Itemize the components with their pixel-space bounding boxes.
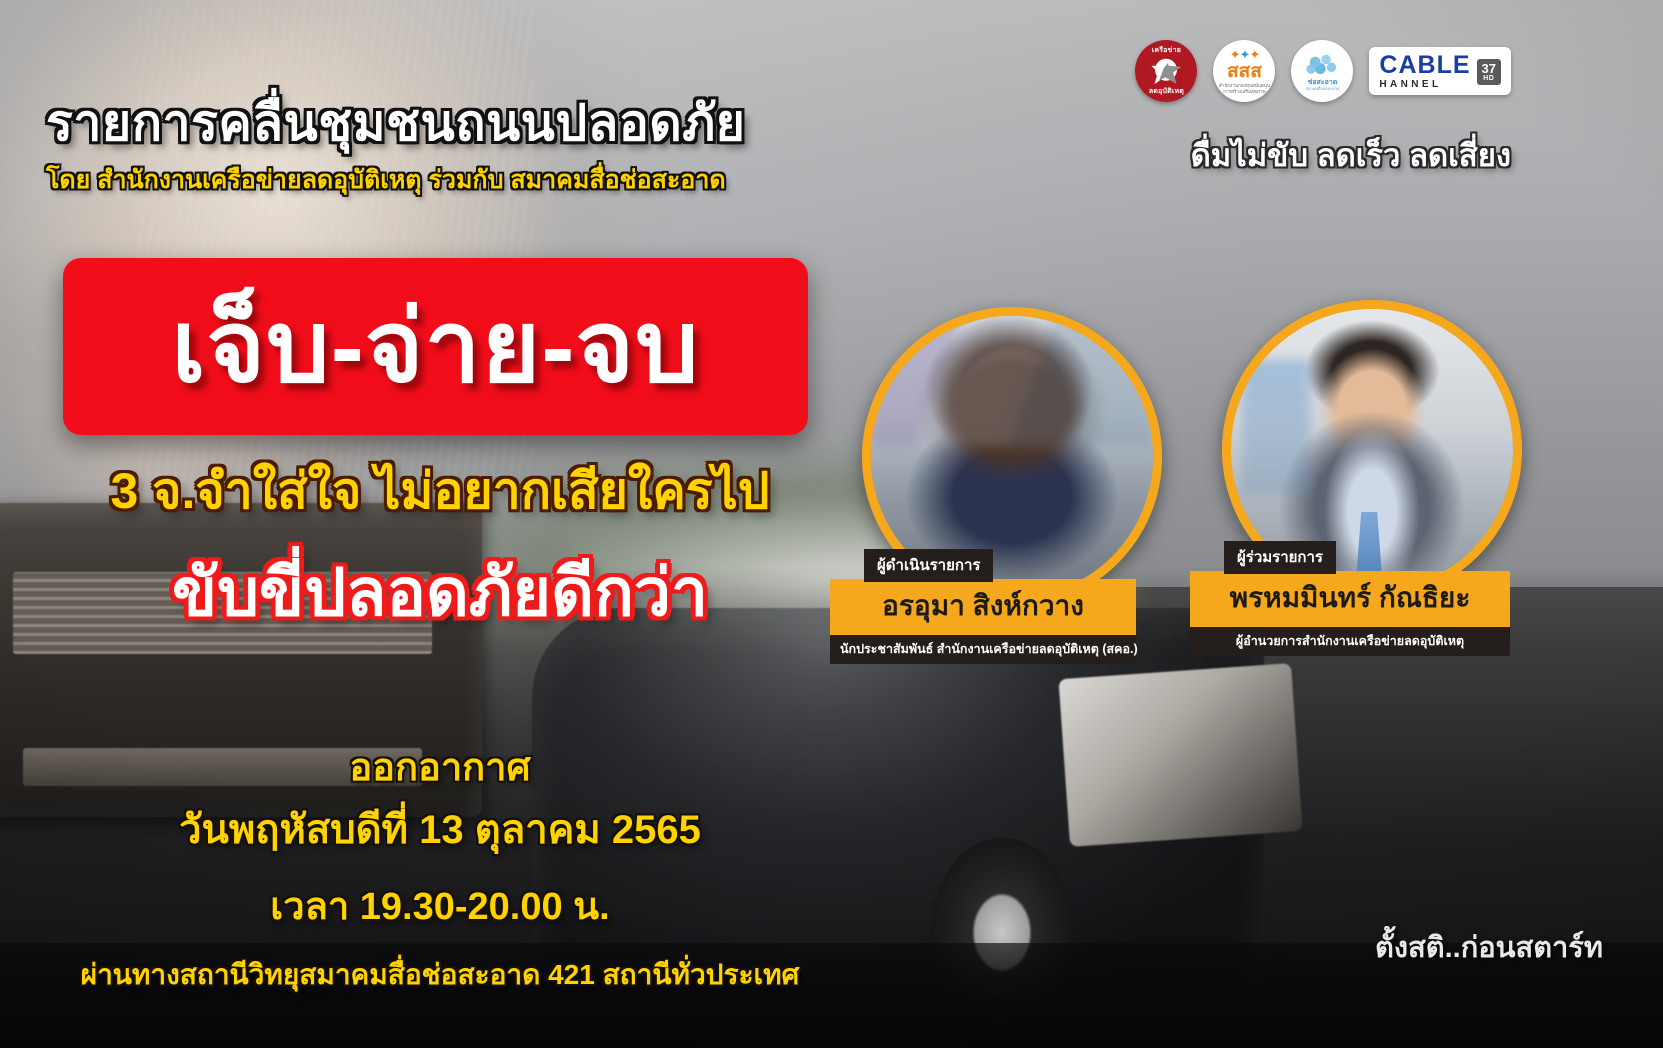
- slogan-red-line: ขับขี่ปลอดภัยดีกว่า: [0, 540, 880, 645]
- logo-row: เครือข่าย ลดอุบัติเหตุ ✦✦✦ สสส สำนักงานก…: [1135, 40, 1511, 102]
- cable-hd-badge: 37 HD: [1477, 59, 1501, 85]
- accident-network-logo-bottom-text: ลดอุบัติเหตุ: [1135, 86, 1197, 97]
- crushed-bumper-detail: [1059, 663, 1303, 847]
- accident-network-logo-mark-icon: [1151, 58, 1181, 84]
- presenter-role-badge: ผู้ดำเนินรายการ: [864, 549, 993, 582]
- guest-description: ผู้อำนวยการสำนักงานเครือข่ายลดอุบัติเหตุ: [1190, 627, 1510, 656]
- slogan-yellow-line: 3 จ.จำใส่ใจ ไม่อยากเสียใครไป: [0, 452, 880, 531]
- header-block: รายการคลื่นชุมชนถนนปลอดภัย โดย สำนักงานเ…: [46, 96, 745, 200]
- cable-logo-bottom-text: HANNEL: [1379, 80, 1470, 90]
- thaihealth-logo-main-text: สสส: [1227, 62, 1262, 81]
- broadcast-time: เวลา 19.30-20.00 น.: [0, 881, 880, 935]
- headline-red-text: เจ็บ-จ่าย-จบ: [63, 258, 808, 435]
- broadcast-label: ออกอากาศ: [0, 742, 880, 796]
- chor-sa-ard-logo-main-text: ช่อสะอาด: [1308, 79, 1338, 86]
- top-safety-slogan: ดื่มไม่ขับ ลดเร็ว ลดเสี่ยง: [1191, 130, 1511, 180]
- cable-wordmark: CABLE HANNEL: [1379, 53, 1470, 90]
- broadcast-channel: ผ่านทางสถานีวิทยุสมาคมสื่อช่อสะอาด 421 ส…: [0, 955, 880, 995]
- cable-channel-number: 37: [1482, 62, 1496, 75]
- accident-network-logo-top-text: เครือข่าย: [1135, 45, 1197, 56]
- accident-network-logo-icon: เครือข่าย ลดอุบัติเหตุ: [1135, 40, 1197, 102]
- presenter-description: นักประชาสัมพันธ์ สำนักงานเครือข่ายลดอุบั…: [830, 635, 1136, 664]
- cable-hd-label: HD: [1483, 75, 1494, 82]
- headline-red-box: เจ็บ-จ่าย-จบ: [63, 258, 808, 435]
- presenter-name: อรอุมา สิงห์กวาง: [830, 579, 1136, 635]
- broadcast-info-block: ออกอากาศ วันพฤหัสบดีที่ 13 ตุลาคม 2565 เ…: [0, 742, 880, 994]
- chor-sa-ard-flower-icon: [1305, 53, 1339, 79]
- thaihealth-logo-icon: ✦✦✦ สสส สำนักงานกองทุนสนับสนุน การสร้างเ…: [1213, 40, 1275, 102]
- program-title: รายการคลื่นชุมชนถนนปลอดภัย: [46, 96, 745, 150]
- poster-canvas: รายการคลื่นชุมชนถนนปลอดภัย โดย สำนักงานเ…: [0, 0, 1663, 1048]
- broadcast-date: วันพฤหัสบดีที่ 13 ตุลาคม 2565: [0, 802, 880, 859]
- nameplate-guest: ผู้ร่วมรายการ พรหมมินทร์ กัณธิยะ ผู้อำนว…: [1190, 541, 1510, 656]
- cable-channel-logo: CABLE HANNEL 37 HD: [1369, 47, 1511, 95]
- chor-sa-ard-logo-sub-text: สมาคมสื่อช่อสะอาด: [1305, 87, 1339, 92]
- guest-role-badge: ผู้ร่วมรายการ: [1224, 541, 1336, 574]
- thaihealth-logo-sub-text: สำนักงานกองทุนสนับสนุน การสร้างเสริมสุขภ…: [1216, 83, 1272, 94]
- program-subtitle: โดย สำนักงานเครือข่ายลดอุบัติเหตุ ร่วมกั…: [46, 160, 745, 200]
- chor-sa-ard-logo-icon: ช่อสะอาด สมาคมสื่อช่อสะอาด: [1291, 40, 1353, 102]
- cable-logo-top-text: CABLE: [1379, 53, 1470, 78]
- guest-photo-backdrop: [1242, 360, 1310, 495]
- thaihealth-stars-icon: ✦✦✦: [1230, 48, 1260, 61]
- bottom-right-slogan: ตั้งสติ..ก่อนสตาร์ท: [1375, 924, 1603, 970]
- guest-name: พรหมมินทร์ กัณธิยะ: [1190, 571, 1510, 627]
- nameplate-presenter: ผู้ดำเนินรายการ อรอุมา สิงห์กวาง นักประช…: [830, 549, 1136, 664]
